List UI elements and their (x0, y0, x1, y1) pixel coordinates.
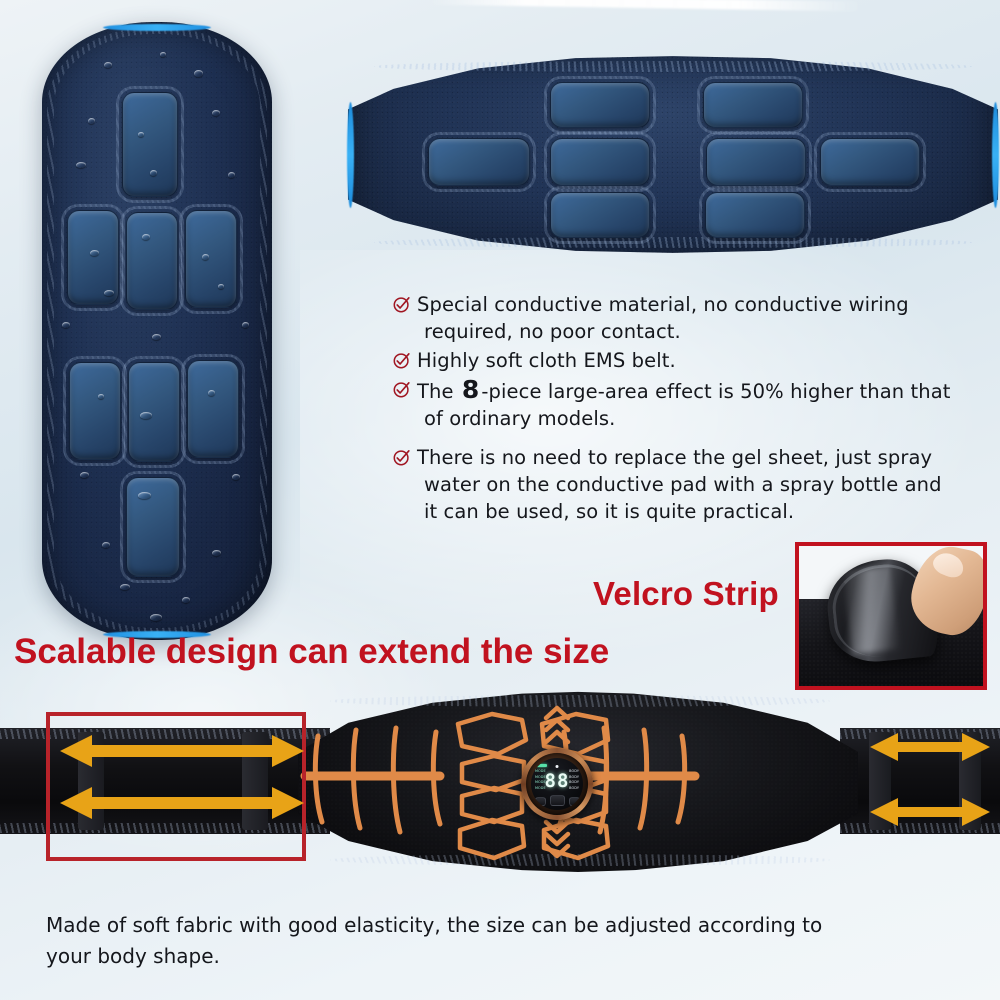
check-circle-icon (392, 295, 411, 314)
caption-line: Made of soft fabric with good elasticity… (46, 910, 966, 941)
velcro-flap-highlight (842, 566, 900, 655)
caption-line: your body shape. (46, 941, 966, 972)
belt-horizontal-bottom-stitching (372, 237, 973, 248)
bottom-caption: Made of soft fabric with good elasticity… (46, 910, 966, 972)
check-circle-icon (392, 380, 411, 399)
feature-line: of ordinary models. (417, 405, 951, 432)
controller-display-value: 88 (545, 772, 570, 791)
feature-emphasis-number: 8 (460, 375, 482, 404)
conductive-pad (550, 192, 650, 238)
belt-vertical-image (42, 22, 272, 640)
scalable-design-heading: Scalable design can extend the size (14, 632, 609, 672)
check-circle-icon (392, 351, 411, 370)
conductive-pad (705, 192, 805, 238)
conductive-pad (126, 477, 180, 577)
indicator-label: BODY (569, 770, 579, 774)
feature-text: Highly soft cloth EMS belt. (417, 347, 676, 374)
feature-line: Highly soft cloth EMS belt. (417, 347, 676, 374)
belt-horizontal-top-stitching (372, 61, 973, 72)
feature-line: The 8-piece large-area effect is 50% hig… (417, 376, 951, 405)
controller-plus-button[interactable] (569, 797, 580, 806)
conductive-pad (122, 92, 178, 197)
indicator-label: BODY (569, 776, 579, 780)
controller-power-button[interactable] (550, 795, 565, 806)
controller-level-bar (536, 764, 547, 767)
conductive-pad (703, 82, 803, 128)
conductive-pad (820, 138, 920, 186)
belt-horizontal-left-blue-trim (347, 102, 354, 208)
controller-led-dot (556, 765, 559, 768)
belt-vertical-top-blue-trim (103, 24, 211, 31)
indicator-label: BODY (569, 787, 579, 791)
belt-horizontal-right-blue-trim (992, 102, 999, 208)
velcro-tab-right-outer (959, 732, 981, 830)
controller-minus-button[interactable] (535, 797, 546, 806)
conductive-pad (550, 82, 650, 128)
feature-line: Special conductive material, no conducti… (417, 291, 909, 318)
feature-item: There is no need to replace the gel shee… (392, 444, 992, 525)
velcro-closeup-photo (795, 542, 987, 690)
controller-display-face: MODE MODE MODE MODE BODY BODY BODY BODY … (531, 758, 583, 810)
conductive-pad (67, 210, 119, 305)
ems-controller-module[interactable]: MODE MODE MODE MODE BODY BODY BODY BODY … (521, 748, 593, 820)
conductive-pad (187, 360, 239, 458)
feature-line: water on the conductive pad with a spray… (417, 471, 942, 498)
check-circle-icon (392, 448, 411, 467)
conductive-pad (126, 212, 178, 310)
belt-horizontal-image (348, 52, 998, 257)
conductive-pad (185, 210, 237, 308)
feature-item: The 8-piece large-area effect is 50% hig… (392, 376, 992, 432)
infographic-page: Special conductive material, no conducti… (0, 0, 1000, 1000)
feature-line: There is no need to replace the gel shee… (417, 444, 942, 471)
conductive-pad (428, 138, 530, 186)
controller-right-indicators: BODY BODY BODY BODY (569, 770, 579, 790)
feature-text: Special conductive material, no conducti… (417, 291, 909, 345)
conductive-pad (550, 138, 650, 186)
controller-button-row (531, 795, 583, 806)
feature-text: The 8-piece large-area effect is 50% hig… (417, 376, 951, 432)
feature-text-before: The (417, 380, 454, 403)
feature-item: Highly soft cloth EMS belt. (392, 347, 992, 374)
feature-text-after: -piece large-area effect is 50% higher t… (481, 380, 950, 403)
conductive-pad (706, 138, 806, 186)
conductive-pad (128, 362, 180, 462)
feature-line: required, no poor contact. (417, 318, 909, 345)
indicator-label: BODY (569, 781, 579, 785)
feature-text: There is no need to replace the gel shee… (417, 444, 942, 525)
belt-black-bottom-stitching (328, 854, 831, 866)
top-light-streak (430, 0, 860, 11)
feature-list: Special conductive material, no conducti… (392, 291, 992, 527)
extension-highlight-box (46, 712, 306, 861)
conductive-pad (69, 362, 121, 460)
belt-black-top-stitching (328, 695, 831, 707)
velcro-tab-right-inner (869, 732, 891, 830)
feature-line: it can be used, so it is quite practical… (417, 498, 942, 525)
feature-item: Special conductive material, no conducti… (392, 291, 992, 345)
velcro-strip-label: Velcro Strip (593, 575, 779, 613)
